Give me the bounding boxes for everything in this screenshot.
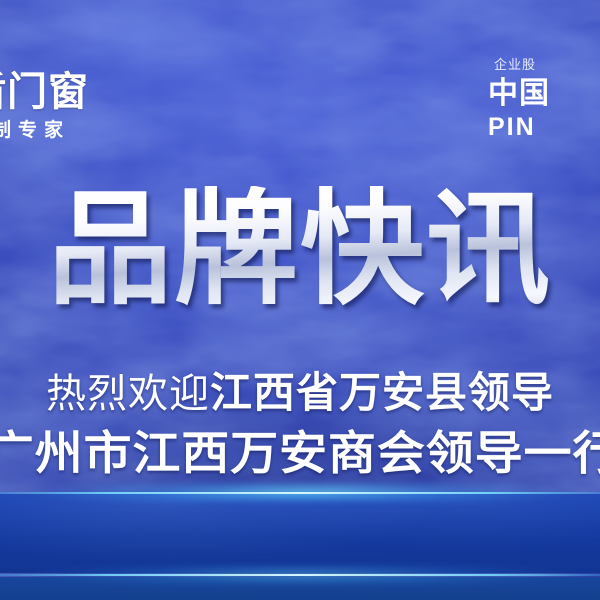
brand-right-name-cn: 中国 xyxy=(488,79,600,109)
brand-logo-right: 企业股 中国 PIN xyxy=(488,58,600,140)
brand-logo-left: 盾门窗 定制专家 xyxy=(0,72,156,140)
subtitle-line-1: 热烈欢迎江西省万安县领导 xyxy=(0,372,600,414)
subtitle-welcome-text: 热烈欢迎 xyxy=(46,372,210,416)
page-title: 品牌快讯 xyxy=(48,186,552,316)
subtitle-guest-org-1: 江西省万安县领导 xyxy=(210,369,554,416)
brand-right-eyebrow: 企业股 xyxy=(488,58,600,71)
brand-right-name-en: PIN xyxy=(488,115,600,140)
glow-divider-bottom-core xyxy=(0,574,600,576)
main-title-container: 品牌快讯 xyxy=(0,186,600,316)
brand-left-name: 盾门窗 xyxy=(0,72,156,112)
bottom-band-upper xyxy=(0,494,600,573)
subtitle-line-2: 广州市江西万安商会领导一行莅临 xyxy=(0,430,600,476)
brand-news-poster: 盾门窗 定制专家 企业股 中国 PIN 品牌快讯 热烈欢迎江西省万安县领导 广州… xyxy=(0,0,600,600)
bottom-band-lower xyxy=(0,577,600,600)
brand-left-tagline: 定制专家 xyxy=(0,121,156,140)
subtitle-guest-org-2: 广州市江西万安商会领导一行莅临 xyxy=(0,430,600,476)
poster-header: 盾门窗 定制专家 企业股 中国 PIN xyxy=(0,0,600,160)
